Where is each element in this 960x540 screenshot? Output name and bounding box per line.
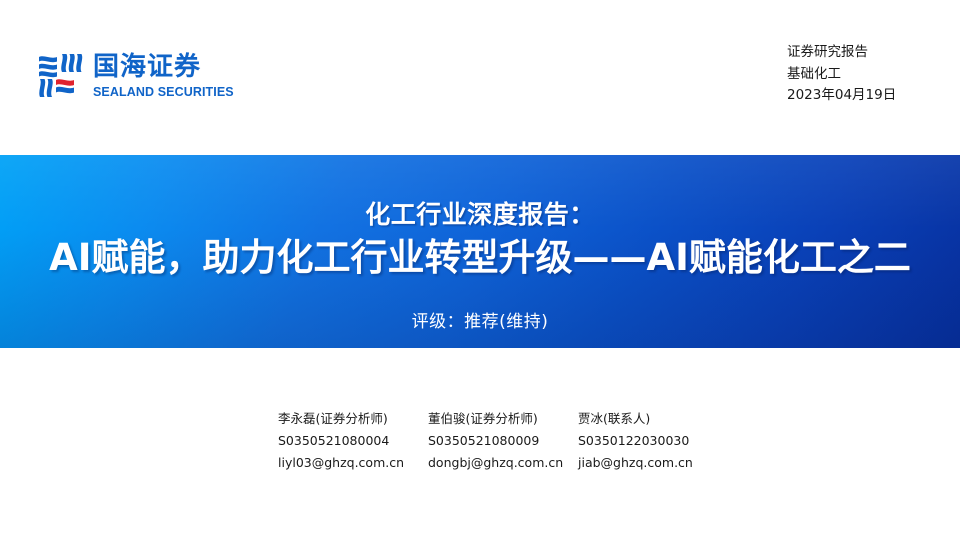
- company-logo: 国海证券 SEALAND SECURITIES: [38, 52, 234, 100]
- title-banner: 化工行业深度报告： AI赋能，助力化工行业转型升级——AI赋能化工之二 评级：推…: [0, 155, 960, 348]
- report-date: 2023年04月19日: [787, 85, 947, 107]
- sealand-securities-logo-mark: [38, 52, 84, 98]
- logo-name-en: SEALAND SECURITIES: [93, 84, 234, 100]
- analyst-email[interactable]: dongbj@ghzq.com.cn: [428, 452, 578, 474]
- rating-label: 评级：推荐(维持): [0, 307, 960, 332]
- analyst-license: S0350521080004: [278, 430, 428, 452]
- analyst-contacts: 李永磊(证券分析师) S0350521080004 liyl03@ghzq.co…: [278, 408, 738, 474]
- analyst-name: 贾冰(联系人): [578, 408, 738, 430]
- analyst-name: 李永磊(证券分析师): [278, 408, 428, 430]
- analyst-license: S0350521080009: [428, 430, 578, 452]
- analyst-email[interactable]: liyl03@ghzq.com.cn: [278, 452, 428, 474]
- analyst-email[interactable]: jiab@ghzq.com.cn: [578, 452, 738, 474]
- contact-column: 李永磊(证券分析师) S0350521080004 liyl03@ghzq.co…: [278, 408, 428, 474]
- report-type-label: 证券研究报告: [787, 42, 947, 64]
- page-title: AI赋能，助力化工行业转型升级——AI赋能化工之二: [0, 227, 960, 281]
- report-subtitle: 化工行业深度报告：: [0, 195, 960, 231]
- report-meta: 证券研究报告 基础化工 2023年04月19日: [787, 42, 947, 107]
- analyst-license: S0350122030030: [578, 430, 738, 452]
- contact-column: 贾冰(联系人) S0350122030030 jiab@ghzq.com.cn: [578, 408, 738, 474]
- analyst-name: 董伯骏(证券分析师): [428, 408, 578, 430]
- industry-label: 基础化工: [787, 64, 947, 86]
- contact-column: 董伯骏(证券分析师) S0350521080009 dongbj@ghzq.co…: [428, 408, 578, 474]
- logo-name-cn: 国海证券: [93, 53, 234, 82]
- page-header: 国海证券 SEALAND SECURITIES 证券研究报告 基础化工 2023…: [0, 0, 960, 155]
